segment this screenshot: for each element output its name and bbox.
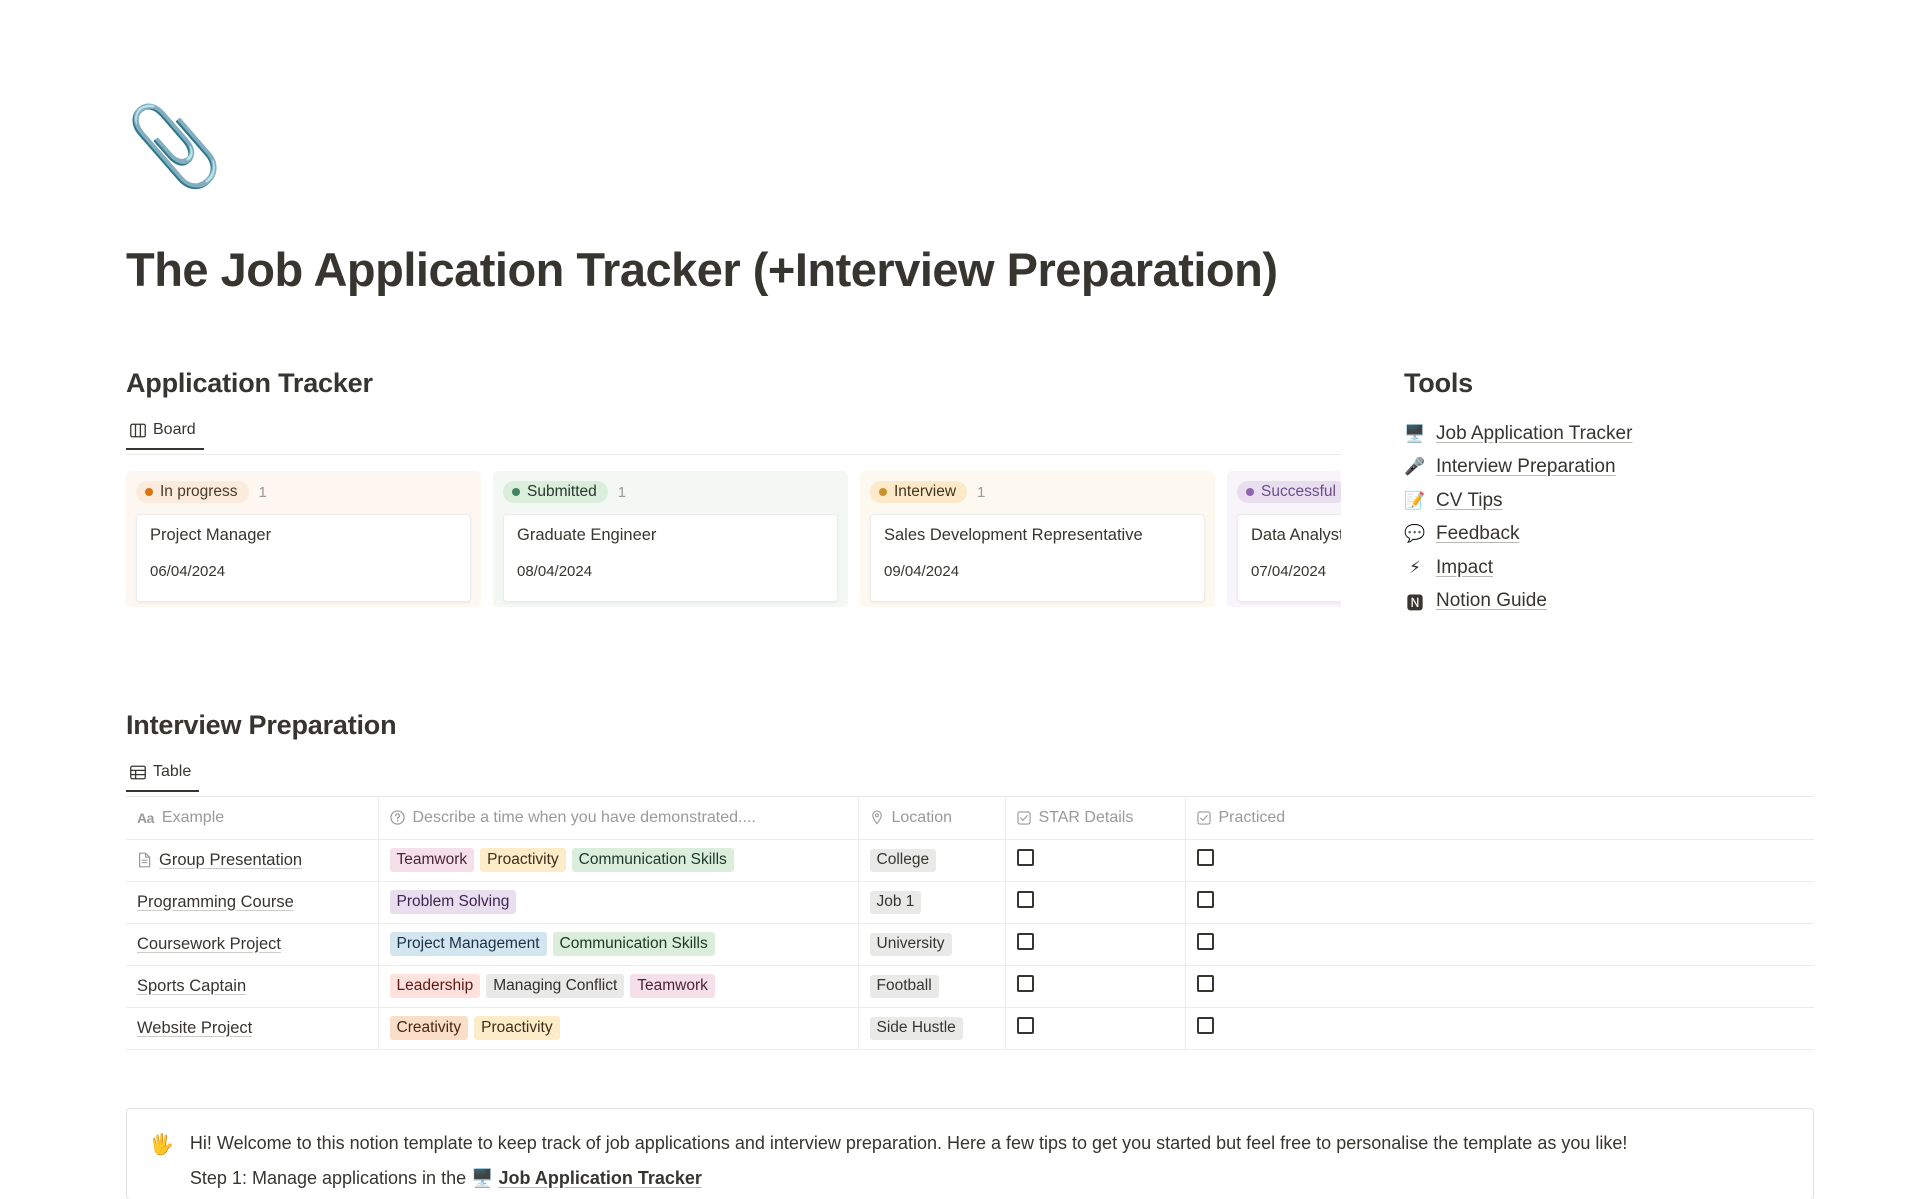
tool-link[interactable]: Job Application Tracker <box>1436 423 1632 445</box>
skill-tag[interactable]: Leadership <box>390 974 481 998</box>
practiced-checkbox[interactable] <box>1197 1017 1214 1034</box>
microphone-icon: 🎤 <box>1404 457 1426 477</box>
table-column-label: Practiced <box>1219 809 1286 827</box>
board-column-header: In progress1 <box>136 479 471 505</box>
welcome-callout-section: 🖐 Hi! Welcome to this notion template to… <box>126 1108 1814 1199</box>
practiced-checkbox[interactable] <box>1197 933 1214 950</box>
skill-tag-label: Teamwork <box>637 977 708 994</box>
board-view-icon <box>130 423 146 438</box>
tool-list-item[interactable]: 🖥️Job Application Tracker <box>1404 417 1824 451</box>
cell-practiced[interactable] <box>1185 965 1814 1007</box>
location-tag: Job 1 <box>870 891 922 914</box>
status-label: In progress <box>160 484 238 500</box>
cell-practiced[interactable] <box>1185 839 1814 881</box>
example-name[interactable]: Group Presentation <box>159 851 302 870</box>
interview-preparation-section: Interview Preparation Table AaExampleDes… <box>126 710 1814 1050</box>
status-dot-icon <box>512 488 520 496</box>
tool-link[interactable]: Notion Guide <box>1436 590 1547 612</box>
board-card[interactable]: Sales Development Representative09/04/20… <box>870 514 1205 602</box>
star-details-checkbox[interactable] <box>1017 849 1034 866</box>
welcome-callout: 🖐 Hi! Welcome to this notion template to… <box>126 1108 1814 1199</box>
title-aa-icon: Aa <box>137 810 154 826</box>
status-label: Successful <box>1261 484 1336 500</box>
board-card[interactable]: Project Manager06/04/2024 <box>136 514 471 602</box>
table-view-icon <box>130 765 146 780</box>
status-label: Interview <box>894 484 956 500</box>
skill-tag-label: Problem Solving <box>397 893 510 910</box>
interview-preparation-table: AaExampleDescribe a time when you have d… <box>126 797 1814 1050</box>
tool-list-item[interactable]: 🎤Interview Preparation <box>1404 451 1824 485</box>
tab-board[interactable]: Board <box>126 421 204 450</box>
star-details-checkbox[interactable] <box>1017 1017 1034 1034</box>
cell-skills[interactable]: Project ManagementCommunication Skills <box>378 923 858 965</box>
callout-tracker-link[interactable]: Job Application Tracker <box>499 1168 702 1188</box>
table-column-header[interactable]: AaExample <box>126 797 378 839</box>
table-column-header[interactable]: Describe a time when you have demonstrat… <box>378 797 858 839</box>
cell-example[interactable]: Coursework Project <box>126 923 378 965</box>
status-dot-icon <box>145 488 153 496</box>
tools-section: Tools 🖥️Job Application Tracker🎤Intervie… <box>1404 368 1824 618</box>
tool-list-item[interactable]: 🅽Notion Guide <box>1404 585 1824 619</box>
page-document-icon <box>137 852 152 868</box>
cell-practiced[interactable] <box>1185 923 1814 965</box>
cell-location[interactable]: Football <box>858 965 1005 1007</box>
table-header-row: AaExampleDescribe a time when you have d… <box>126 797 1814 839</box>
skill-tag-label: Communication Skills <box>579 851 727 868</box>
board-card-title: Project Manager <box>150 526 457 545</box>
cell-star-details[interactable] <box>1005 881 1185 923</box>
skill-tag[interactable]: Creativity <box>390 1016 469 1040</box>
status-label: Submitted <box>527 484 597 500</box>
speech-balloon-icon: 💬 <box>1404 524 1426 544</box>
cell-location[interactable]: Side Hustle <box>858 1007 1005 1049</box>
star-details-checkbox[interactable] <box>1017 891 1034 908</box>
tool-link[interactable]: Feedback <box>1436 523 1519 545</box>
tool-link[interactable]: Impact <box>1436 557 1493 579</box>
board-column[interactable]: SuccessfulData Analyst07/04/2024 <box>1227 471 1341 607</box>
callout-line-1: Hi! Welcome to this notion template to k… <box>190 1129 1627 1158</box>
page-title: The Job Application Tracker (+Interview … <box>126 242 1277 297</box>
skill-tag[interactable]: Communication Skills <box>553 932 715 956</box>
example-name[interactable]: Sports Captain <box>137 977 246 996</box>
status-dot-icon <box>1246 488 1254 496</box>
paperclip-icon: 📎 <box>126 100 218 192</box>
cell-location[interactable]: Job 1 <box>858 881 1005 923</box>
board-card-title: Sales Development Representative <box>884 526 1191 545</box>
select-pin-icon <box>870 810 884 825</box>
location-tag: College <box>870 849 937 872</box>
tool-list-item[interactable]: ⚡Impact <box>1404 551 1824 585</box>
star-details-checkbox[interactable] <box>1017 975 1034 992</box>
board-column-header: Interview1 <box>870 479 1205 505</box>
board-card-title: Data Analyst <box>1251 526 1341 545</box>
tab-table[interactable]: Table <box>126 763 199 792</box>
board-card-date: 07/04/2024 <box>1251 563 1341 580</box>
table-column-label: Example <box>162 809 224 827</box>
table-view-tabs: Table <box>126 763 1814 797</box>
notion-logo-icon: 🅽 <box>1404 589 1426 614</box>
table-row[interactable]: Sports CaptainLeadershipManaging Conflic… <box>126 965 1814 1007</box>
tools-link-list: 🖥️Job Application Tracker🎤Interview Prep… <box>1404 417 1824 618</box>
board-column-count: 1 <box>977 484 985 501</box>
tool-link[interactable]: Interview Preparation <box>1436 456 1616 478</box>
tool-list-item[interactable]: 📝CV Tips <box>1404 484 1824 518</box>
table-row[interactable]: Website ProjectCreativityProactivitySide… <box>126 1007 1814 1049</box>
skill-tag-label: Leadership <box>397 977 474 994</box>
skill-tag-label: Creativity <box>397 1019 462 1036</box>
cell-skills[interactable]: CreativityProactivity <box>378 1007 858 1049</box>
raised-hand-icon: 🖐 <box>149 1129 174 1177</box>
board-view-tabs: Board <box>126 421 1341 455</box>
practiced-checkbox[interactable] <box>1197 849 1214 866</box>
location-tag: Side Hustle <box>870 1017 963 1040</box>
skill-tag-label: Proactivity <box>487 851 559 868</box>
desktop-computer-icon: 🖥️ <box>1404 424 1426 444</box>
cell-star-details[interactable] <box>1005 923 1185 965</box>
table-row[interactable]: Group PresentationTeamworkProactivityCom… <box>126 839 1814 881</box>
skill-tag-label: Communication Skills <box>560 935 708 952</box>
cell-example[interactable]: Website Project <box>126 1007 378 1049</box>
skill-tag[interactable]: Communication Skills <box>572 848 734 872</box>
board-card-date: 06/04/2024 <box>150 563 457 580</box>
board-column[interactable]: In progress1Project Manager06/04/2024 <box>126 471 481 607</box>
board-column[interactable]: Interview1Sales Development Representati… <box>860 471 1215 607</box>
skill-tag[interactable]: Teamwork <box>390 848 475 872</box>
cell-skills[interactable]: Problem Solving <box>378 881 858 923</box>
example-name[interactable]: Programming Course <box>137 893 294 912</box>
cell-skills[interactable]: TeamworkProactivityCommunication Skills <box>378 839 858 881</box>
cell-star-details[interactable] <box>1005 965 1185 1007</box>
status-badge[interactable]: Submitted <box>503 481 608 504</box>
table-column-header[interactable]: Location <box>858 797 1005 839</box>
skill-tag[interactable]: Proactivity <box>474 1016 560 1040</box>
board-column[interactable]: Submitted1Graduate Engineer08/04/2024 <box>493 471 848 607</box>
status-badge[interactable]: In progress <box>136 481 249 504</box>
board-card-title: Graduate Engineer <box>517 526 824 545</box>
application-tracker-section: Application Tracker Board In progress1Pr… <box>126 368 1341 607</box>
cell-star-details[interactable] <box>1005 839 1185 881</box>
skill-tag[interactable]: Teamwork <box>630 974 715 998</box>
notion-page: 📎 The Job Application Tracker (+Intervie… <box>0 0 1920 1199</box>
interview-preparation-heading: Interview Preparation <box>126 710 1814 741</box>
table-row[interactable]: Coursework ProjectProject ManagementComm… <box>126 923 1814 965</box>
tool-list-item[interactable]: 💬Feedback <box>1404 518 1824 552</box>
table-body: Group PresentationTeamworkProactivityCom… <box>126 839 1814 1049</box>
checkbox-icon <box>1017 811 1031 825</box>
star-details-checkbox[interactable] <box>1017 933 1034 950</box>
cell-example[interactable]: Programming Course <box>126 881 378 923</box>
practiced-checkbox[interactable] <box>1197 891 1214 908</box>
skill-tag-label: Managing Conflict <box>493 977 617 994</box>
tab-board-label: Board <box>153 421 196 439</box>
cell-example[interactable]: Sports Captain <box>126 965 378 1007</box>
cell-practiced[interactable] <box>1185 881 1814 923</box>
board-column-header: Submitted1 <box>503 479 838 505</box>
status-dot-icon <box>879 488 887 496</box>
table-row[interactable]: Programming CourseProblem SolvingJob 1 <box>126 881 1814 923</box>
cell-example[interactable]: Group Presentation <box>126 839 378 881</box>
skill-tag-label: Proactivity <box>481 1019 553 1036</box>
cell-skills[interactable]: LeadershipManaging ConflictTeamwork <box>378 965 858 1007</box>
desktop-computer-icon: 🖥️ <box>471 1168 493 1188</box>
example-name[interactable]: Website Project <box>137 1019 252 1038</box>
callout-body: Hi! Welcome to this notion template to k… <box>190 1129 1627 1177</box>
table-column-label: Describe a time when you have demonstrat… <box>413 809 756 827</box>
board-card[interactable]: Data Analyst07/04/2024 <box>1237 514 1341 602</box>
skill-tag-label: Project Management <box>397 935 540 952</box>
skill-tag-label: Teamwork <box>397 851 468 868</box>
cell-practiced[interactable] <box>1185 1007 1814 1049</box>
callout-line-2: Step 1: Manage applications in the 🖥️ Jo… <box>190 1164 1627 1193</box>
board-column-header: Successful <box>1237 479 1341 505</box>
skill-tag[interactable]: Managing Conflict <box>486 974 624 998</box>
tools-heading: Tools <box>1404 368 1824 399</box>
skill-tag[interactable]: Problem Solving <box>390 890 517 914</box>
cell-location[interactable]: University <box>858 923 1005 965</box>
cell-star-details[interactable] <box>1005 1007 1185 1049</box>
board-column-count: 1 <box>259 484 267 501</box>
status-badge[interactable]: Interview <box>870 481 967 504</box>
board-card-date: 09/04/2024 <box>884 563 1191 580</box>
callout-line-2-prefix: Step 1: Manage applications in the <box>190 1168 471 1188</box>
board-column-count: 1 <box>618 484 626 501</box>
location-tag: University <box>870 933 952 956</box>
skill-tag[interactable]: Proactivity <box>480 848 566 872</box>
location-tag: Football <box>870 975 939 998</box>
kanban-board[interactable]: In progress1Project Manager06/04/2024Sub… <box>126 471 1341 607</box>
status-badge[interactable]: Successful <box>1237 481 1341 504</box>
table-column-label: Location <box>892 809 953 827</box>
multi-select-icon <box>390 810 405 825</box>
table-column-header[interactable]: Practiced <box>1185 797 1814 839</box>
checkbox-icon <box>1197 811 1211 825</box>
practiced-checkbox[interactable] <box>1197 975 1214 992</box>
cell-location[interactable]: College <box>858 839 1005 881</box>
application-tracker-heading: Application Tracker <box>126 368 1341 399</box>
skill-tag[interactable]: Project Management <box>390 932 547 956</box>
board-card-date: 08/04/2024 <box>517 563 824 580</box>
memo-icon: 📝 <box>1404 491 1426 511</box>
tool-link[interactable]: CV Tips <box>1436 490 1503 512</box>
tab-table-label: Table <box>153 763 191 781</box>
table-column-label: STAR Details <box>1039 809 1134 827</box>
example-name[interactable]: Coursework Project <box>137 935 281 954</box>
high-voltage-icon: ⚡ <box>1404 558 1426 578</box>
board-card[interactable]: Graduate Engineer08/04/2024 <box>503 514 838 602</box>
table-column-header[interactable]: STAR Details <box>1005 797 1185 839</box>
